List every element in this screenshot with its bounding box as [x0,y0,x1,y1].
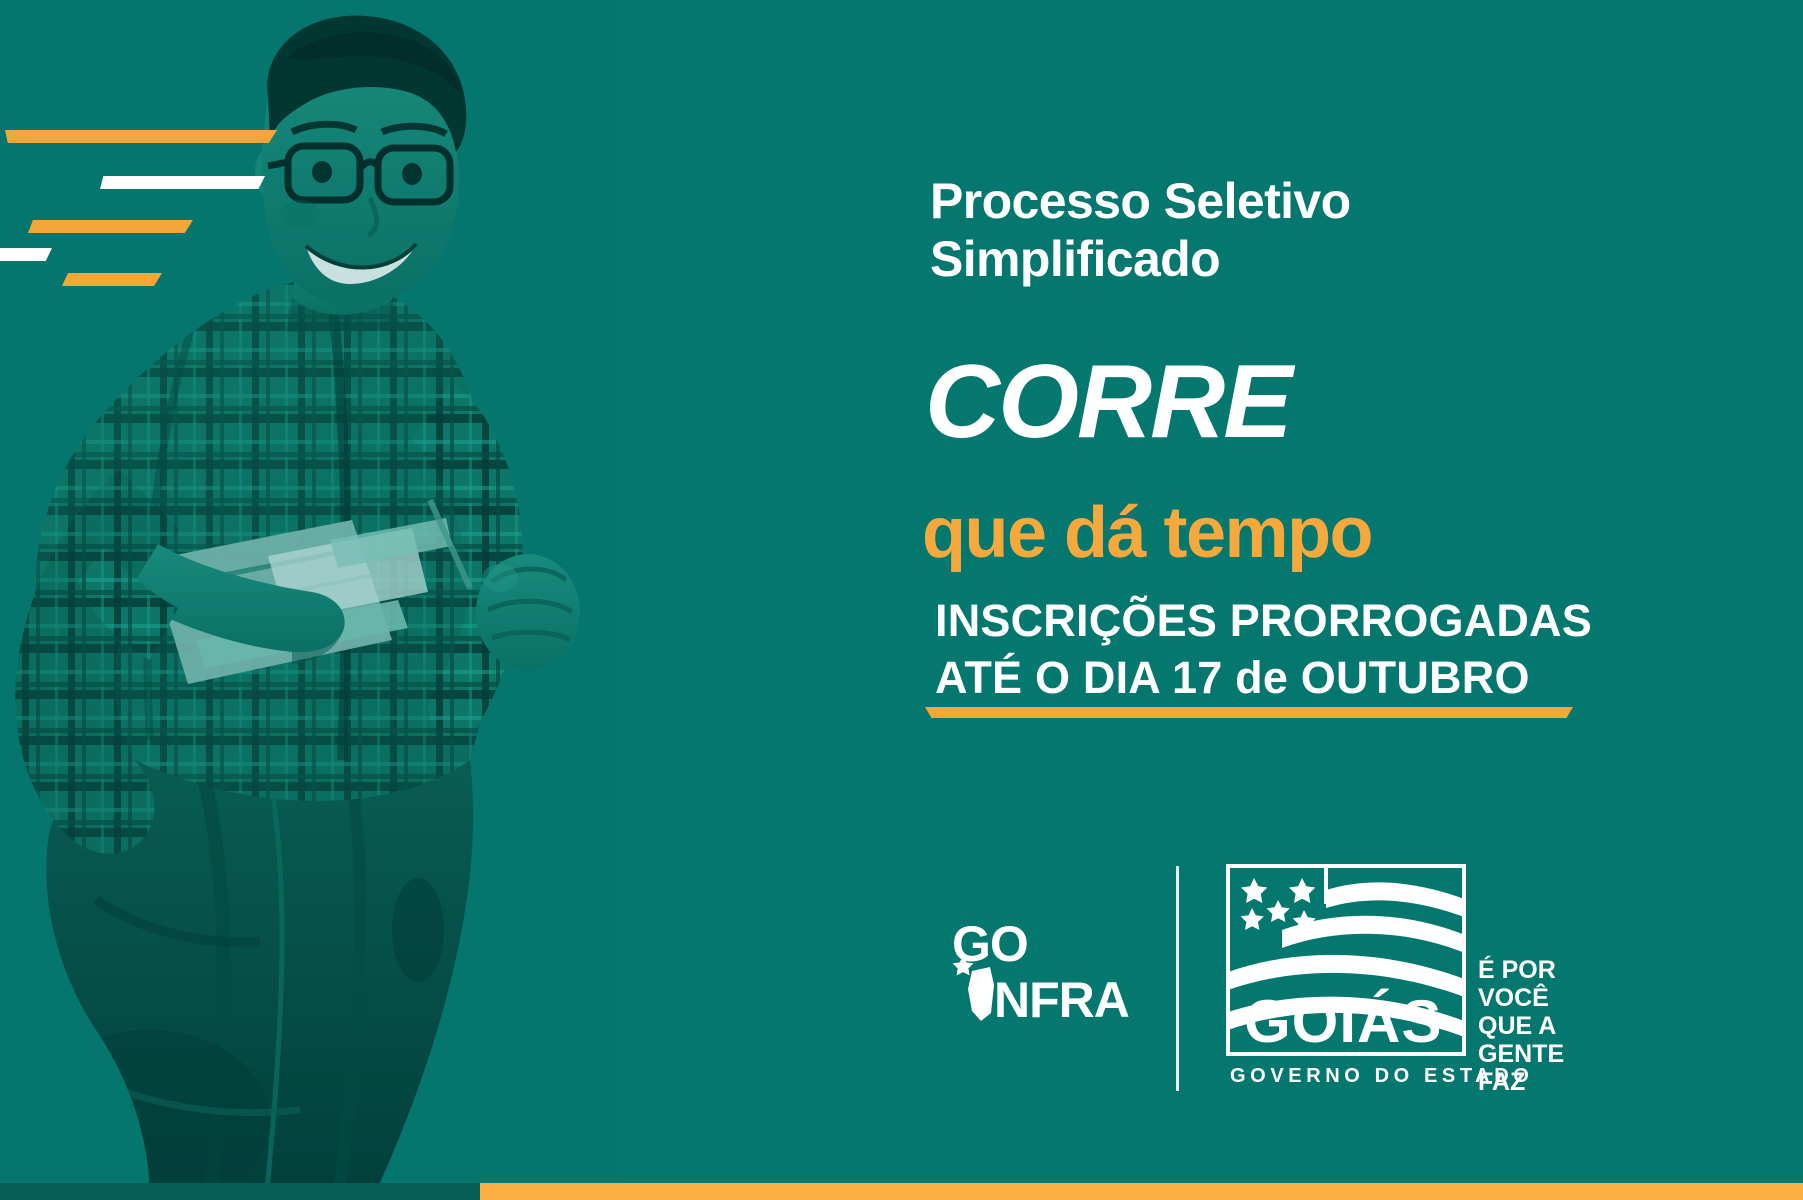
stripe-white-1 [100,176,265,189]
date-underline-rule [925,707,1573,718]
bottom-bar-green-segment [0,1183,480,1200]
logo-divider [1176,866,1179,1091]
svg-text:FAZ: FAZ [1478,1068,1525,1096]
stripe-white-2 [0,248,52,261]
sub-mark-que-da-tempo: que dá tempo [922,497,1372,569]
svg-text:NFRA: NFRA [994,972,1129,1028]
bottom-bar-orange-segment [480,1183,1803,1200]
flag-stars-icon [1241,878,1316,932]
logo-row: GO NFRA [930,855,1630,1105]
bottom-bar [0,1183,1803,1200]
announcement-line-2: ATÉ O DIA 17 de OUTUBRO [935,655,1530,700]
stripe-orange-3 [62,273,162,286]
kicker-heading: Processo Seletivo Simplificado [930,172,1550,288]
announcement-line-1: INSCRIÇÕES PRORROGADAS [935,598,1592,643]
svg-text:VOCÊ: VOCÊ [1478,982,1549,1012]
goinfra-logo: GO NFRA [950,915,1140,1030]
svg-text:GENTE: GENTE [1478,1040,1564,1068]
word-mark-corre: CORRE [925,350,1291,454]
speed-stripes [0,108,330,288]
svg-text:É POR: É POR [1478,955,1556,984]
goias-tagline: É POR VOCÊ QUE A GENTE FAZ [1478,955,1564,1096]
goias-government-logo: GOIÁS GOVERNO DO ESTADO É POR VOCÊ QUE A… [1222,860,1622,1100]
promo-poster: Processo Seletivo Simplificado CORRE que… [0,0,1803,1200]
stripe-orange-2 [28,220,193,233]
poster-content: Processo Seletivo Simplificado CORRE que… [930,0,1650,1200]
stripe-orange-1 [5,130,277,143]
kicker-line-2: Simplificado [930,230,1550,288]
goias-wordmark: GOIÁS [1244,988,1442,1055]
svg-text:QUE A: QUE A [1478,1012,1556,1040]
kicker-line-1: Processo Seletivo [930,172,1550,230]
